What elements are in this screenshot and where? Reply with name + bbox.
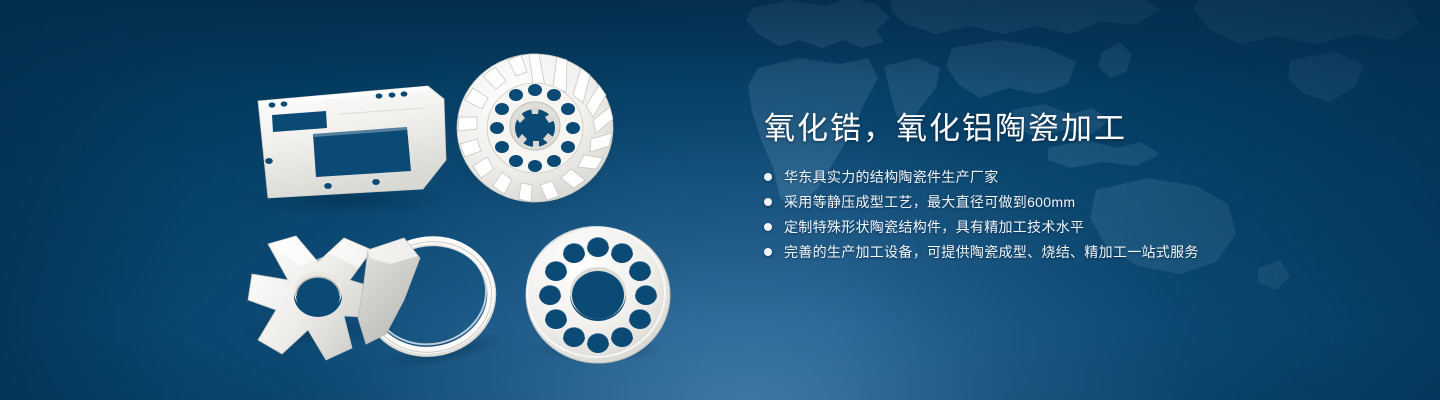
bullet-dot-icon xyxy=(764,173,772,181)
list-item-label: 采用等静压成型工艺，最大直径可做到600mm xyxy=(784,191,1075,213)
banner-copy: 氧化锆，氧化铝陶瓷加工 华东具实力的结构陶瓷件生产厂家 采用等静压成型工艺，最大… xyxy=(764,108,1384,266)
list-item: 完善的生产加工设备，可提供陶瓷成型、烧结、精加工一站式服务 xyxy=(764,241,1384,263)
bullet-dot-icon xyxy=(764,248,772,256)
list-item: 定制特殊形状陶瓷结构件，具有精加工技术水平 xyxy=(764,216,1384,238)
bullet-dot-icon xyxy=(764,198,772,206)
feature-list: 华东具实力的结构陶瓷件生产厂家 采用等静压成型工艺，最大直径可做到600mm 定… xyxy=(764,166,1384,263)
list-item-label: 定制特殊形状陶瓷结构件，具有精加工技术水平 xyxy=(784,216,1084,238)
list-item-label: 华东具实力的结构陶瓷件生产厂家 xyxy=(784,166,999,188)
list-item-label: 完善的生产加工设备，可提供陶瓷成型、烧结、精加工一站式服务 xyxy=(784,241,1199,263)
page-title: 氧化锆，氧化铝陶瓷加工 xyxy=(764,108,1384,150)
list-item: 华东具实力的结构陶瓷件生产厂家 xyxy=(764,166,1384,188)
bullet-dot-icon xyxy=(764,223,772,231)
list-item: 采用等静压成型工艺，最大直径可做到600mm xyxy=(764,191,1384,213)
hero-banner: 氧化锆，氧化铝陶瓷加工 华东具实力的结构陶瓷件生产厂家 采用等静压成型工艺，最大… xyxy=(0,0,1440,400)
